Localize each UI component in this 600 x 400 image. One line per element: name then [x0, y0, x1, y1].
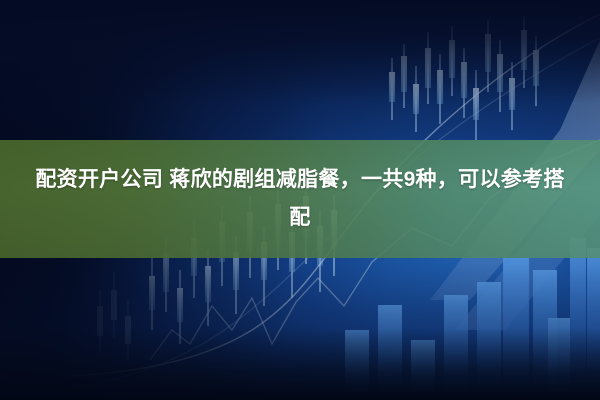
stock-banner: 配资开户公司 蒋欣的剧组减脂餐，一共9种，可以参考搭配: [0, 0, 600, 400]
banner-title: 配资开户公司 蒋欣的剧组减脂餐，一共9种，可以参考搭配: [30, 161, 570, 237]
title-band: 配资开户公司 蒋欣的剧组减脂餐，一共9种，可以参考搭配: [0, 140, 600, 258]
